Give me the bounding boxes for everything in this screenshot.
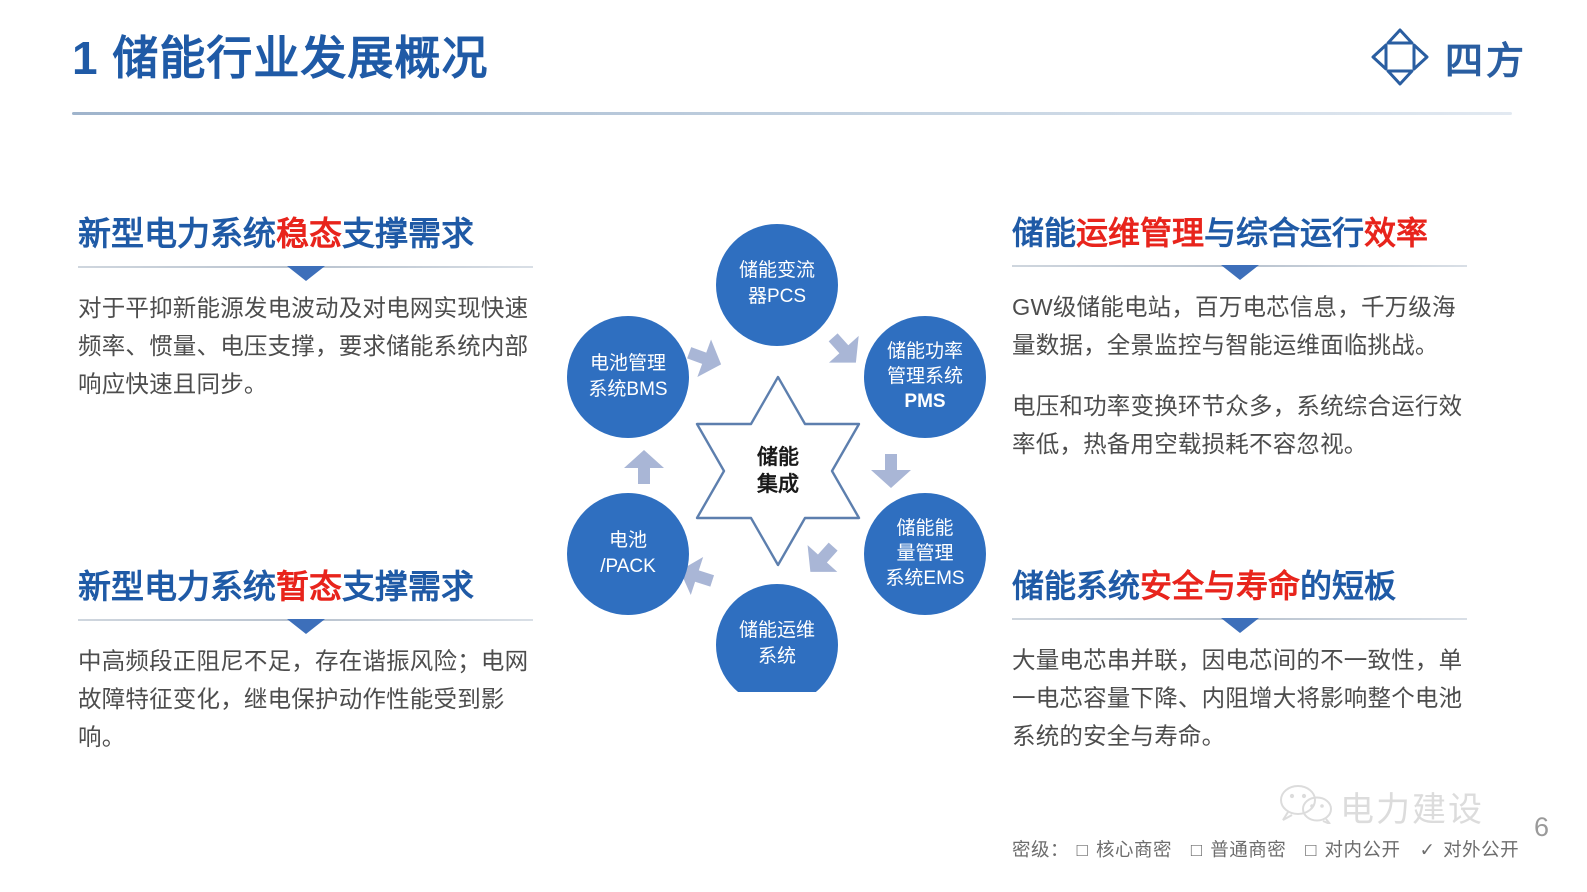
svg-text:储能功率: 储能功率 [887, 340, 963, 362]
block-top-right-paragraph: GW级储能电站，百万电芯信息，千万级海量数据，全景监控与智能运维面临挑战。 [1012, 288, 1467, 364]
diagram-node-ems: 储能能 量管理 系统EMS [864, 493, 986, 615]
wechat-icon [1278, 784, 1334, 829]
block-bottom-left-paragraph: 中高频段正阻尼不足，存在谐振风险；电网故障特征变化，继电保护动作性能受到影响。 [78, 642, 533, 756]
heading-segment: 与综合运行 [1204, 215, 1364, 251]
svg-text:系统: 系统 [758, 645, 796, 667]
down-triangle-icon [287, 619, 325, 634]
block-bottom-left-heading: 新型电力系统暂态支撑需求 [78, 568, 533, 606]
heading-segment-highlight: 运维管理 [1076, 215, 1204, 251]
diagram-node-bms: 电池管理 系统BMS [567, 316, 689, 438]
down-triangle-icon [1221, 265, 1259, 280]
heading-separator [78, 263, 533, 283]
classification-option-label: 核心商密 [1096, 839, 1172, 860]
diagram-node-oms: 储能运维 系统 [716, 584, 838, 692]
block-top-left-heading: 新型电力系统稳态支撑需求 [78, 215, 533, 253]
svg-text:PMS: PMS [904, 391, 945, 412]
diagram-node-pcs: 储能变流 器PCS [716, 224, 838, 346]
center-label-line-1: 储能 [757, 445, 799, 469]
classification-label: 密级： [1012, 839, 1069, 860]
classification-option-label: 对内公开 [1325, 839, 1401, 860]
heading-separator [78, 616, 533, 636]
svg-text:器PCS: 器PCS [748, 286, 806, 307]
block-top-left: 新型电力系统稳态支撑需求 对于平抑新能源发电波动及对电网实现快速频率、惯量、电压… [78, 215, 533, 427]
block-bottom-right-paragraph: 大量电芯串并联，因电芯间的不一致性，单一电芯容量下降、内阻增大将影响整个电池系统… [1012, 641, 1467, 755]
slide: 1 储能行业发展概况 四方 新型电力系统稳态支撑需求 [0, 0, 1587, 892]
heading-segment: 储能系统 [1012, 568, 1140, 604]
classification-option-label: 对外公开 [1443, 839, 1519, 860]
block-top-right-paragraph: 电压和功率变换环节众多，系统综合运行效率低，热备用空载损耗不容忽视。 [1012, 387, 1467, 463]
svg-text:系统EMS: 系统EMS [885, 567, 964, 589]
classification-footer: 密级： □ 核心商密 □ 普通商密 □ 对内公开 ✓ 对外公开 [1012, 836, 1519, 862]
svg-text:电池: 电池 [609, 529, 647, 551]
heading-segment: 储能 [1012, 215, 1076, 251]
block-bottom-right-heading: 储能系统安全与寿命的短板 [1012, 568, 1467, 605]
diagram-node-pack: 电池 /PACK [567, 493, 689, 615]
heading-segment: 新型电力系统 [78, 568, 276, 605]
heading-segment: 新型电力系统 [78, 215, 276, 252]
diagram-node-pms: 储能功率 管理系统 PMS [864, 316, 986, 438]
heading-segment-highlight: 安全与寿命 [1140, 568, 1300, 604]
block-bottom-left: 新型电力系统暂态支撑需求 中高频段正阻尼不足，存在谐振风险；电网故障特征变化，继… [78, 568, 533, 780]
checkbox-core-confidential[interactable]: □ [1077, 839, 1089, 860]
svg-text:管理系统: 管理系统 [887, 365, 963, 387]
svg-text:储能变流: 储能变流 [739, 259, 815, 281]
svg-text:量管理: 量管理 [896, 542, 953, 564]
center-label-line-2: 集成 [756, 472, 799, 496]
svg-text:储能能: 储能能 [896, 517, 953, 539]
brand-logo: 四方 [1369, 26, 1527, 88]
down-triangle-icon [287, 266, 325, 281]
watermark: 电力建设 [1278, 782, 1484, 831]
down-triangle-icon [1221, 618, 1259, 633]
svg-text:系统BMS: 系统BMS [588, 378, 667, 400]
checkbox-external-public[interactable]: ✓ [1419, 839, 1435, 860]
heading-segment-highlight: 稳态 [276, 215, 342, 252]
checkbox-general-confidential[interactable]: □ [1191, 839, 1203, 860]
page-title: 1 储能行业发展概况 [72, 22, 488, 88]
svg-text:储能运维: 储能运维 [739, 619, 815, 641]
heading-segment: 的短板 [1300, 568, 1396, 604]
svg-text:电池管理: 电池管理 [590, 352, 666, 374]
block-top-right-heading: 储能运维管理与综合运行效率 [1012, 215, 1467, 252]
brand-name: 四方 [1445, 30, 1527, 85]
diamond-four-triangles-logo-icon [1369, 26, 1431, 88]
title-divider [72, 112, 1512, 115]
page-number: 6 [1534, 812, 1549, 843]
center-star-shape [697, 377, 859, 565]
checkbox-internal-public[interactable]: □ [1305, 839, 1317, 860]
block-top-right: 储能运维管理与综合运行效率 GW级储能电站，百万电芯信息，千万级海量数据，全景监… [1012, 215, 1467, 487]
energy-storage-integration-diagram: 储能 集成 储能变流 器PCS 储能功率 管理系统 PMS 储能能 量管理 系统… [548, 222, 1008, 692]
watermark-text: 电力建设 [1340, 782, 1484, 831]
heading-segment-highlight: 暂态 [276, 568, 342, 605]
heading-segment: 支撑需求 [342, 215, 474, 252]
block-top-left-paragraph: 对于平抑新能源发电波动及对电网实现快速频率、惯量、电压支撑，要求储能系统内部响应… [78, 289, 533, 403]
block-bottom-right: 储能系统安全与寿命的短板 大量电芯串并联，因电芯间的不一致性，单一电芯容量下降、… [1012, 568, 1467, 778]
heading-segment: 支撑需求 [342, 568, 474, 605]
heading-segment-highlight: 效率 [1364, 215, 1428, 251]
classification-option-label: 普通商密 [1210, 839, 1286, 860]
slide-header: 1 储能行业发展概况 四方 [0, 0, 1587, 120]
heading-separator [1012, 615, 1467, 635]
svg-text:/PACK: /PACK [600, 556, 656, 577]
heading-separator [1012, 262, 1467, 282]
